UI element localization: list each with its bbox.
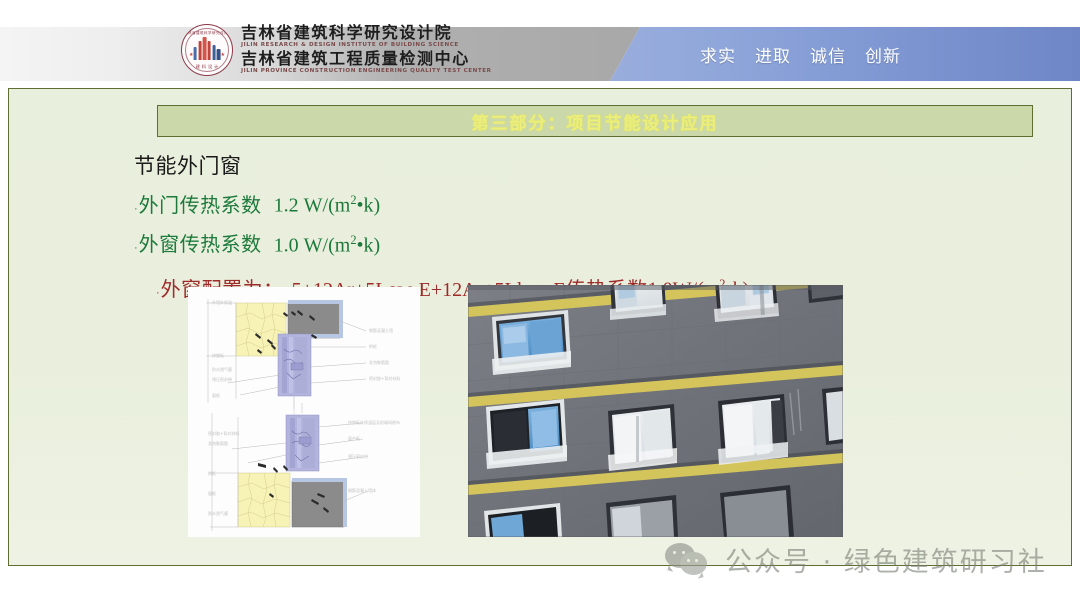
svg-text:附框: 附框 <box>369 343 377 349</box>
bullet-marker-icon: · <box>156 278 160 309</box>
header-motto: 求实 进取 诚信 创新 <box>700 27 901 81</box>
watermark-text: 公众号 · 绿色建筑研习社 <box>725 540 1047 579</box>
svg-text:钢筋混凝土墙体: 钢筋混凝土墙体 <box>348 487 376 493</box>
svg-text:外墙外保温: 外墙外保温 <box>212 299 232 305</box>
svg-text:发泡聚氨酯: 发泡聚氨酯 <box>208 440 228 446</box>
watermark: 公众号 · 绿色建筑研习社 <box>665 540 1047 579</box>
svg-text:预压密封带: 预压密封带 <box>348 453 368 459</box>
svg-text:挤塑板外保温层及耐碱网格布: 挤塑板外保温层及耐碱网格布 <box>348 419 400 425</box>
svg-text:窗台板: 窗台板 <box>348 435 360 441</box>
svg-text:密封胶+背衬材料: 密封胶+背衬材料 <box>369 375 400 381</box>
seal-arc-bottom-text: 建科设计 <box>182 64 233 70</box>
institute-name-cn-1: 吉林省建筑科学研究设计院 <box>241 24 492 41</box>
institute-logo-lockup: 吉林省建筑科学研究设计院 ★ ★ 建科设计 吉林省建筑科学研究设计院 JILIN… <box>181 24 492 76</box>
svg-text:钢筋混凝土墙: 钢筋混凝土墙 <box>369 327 393 333</box>
institute-seal-icon: 吉林省建筑科学研究设计院 ★ ★ 建科设计 <box>181 24 233 76</box>
svg-text:防水透气膜: 防水透气膜 <box>208 510 228 516</box>
wechat-bubbles-icon <box>665 543 711 577</box>
bullet-label-1: 外门传热系数 <box>139 190 262 221</box>
motto-word-4: 创新 <box>865 42 901 67</box>
institute-name-block: 吉林省建筑科学研究设计院 JILIN RESEARCH & DESIGN INS… <box>241 24 492 76</box>
svg-text:预压密封带: 预压密封带 <box>212 376 232 382</box>
bullet-row-1: · 外门传热系数 1.2 W/(m2•k) <box>134 185 749 225</box>
svg-text:附框: 附框 <box>208 470 216 476</box>
slide-header: 求实 进取 诚信 创新 吉林省建筑科学研究设计院 ★ ★ 建科设计 吉林省建筑科… <box>0 27 1080 81</box>
bullet-row-2: · 外窗传热系数 1.0 W/(m2•k) <box>134 225 749 265</box>
svg-text:防水透气膜: 防水透气膜 <box>212 366 232 372</box>
svg-text:挤塑板: 挤塑板 <box>212 352 224 358</box>
detail-drawing-svg: 外墙外保温 挤塑板 防水透气膜 预压密封带 窗框 钢筋混凝土墙 附框 发泡聚氨酯… <box>188 287 420 537</box>
motto-word-2: 进取 <box>755 42 791 67</box>
building-facade-insulation-photo <box>468 285 843 537</box>
content-heading: 节能外门窗 <box>134 151 749 181</box>
svg-text:窗框: 窗框 <box>212 392 220 398</box>
seal-building-bars-icon <box>194 36 221 60</box>
motto-word-1: 求实 <box>700 42 736 67</box>
institute-name-en-2: JILIN PROVINCE CONSTRUCTION ENGINEERING … <box>241 67 492 76</box>
bullet-value-2: 1.0 W/(m2•k) <box>274 225 381 262</box>
bullet-marker-icon: · <box>134 194 138 225</box>
motto-word-3: 诚信 <box>810 42 846 67</box>
svg-text:发泡聚氨酯: 发泡聚氨酯 <box>369 359 389 365</box>
slide-root: 求实 进取 诚信 创新 吉林省建筑科学研究设计院 ★ ★ 建科设计 吉林省建筑科… <box>0 0 1080 608</box>
svg-text:密封胶+背衬材料: 密封胶+背衬材料 <box>208 430 239 436</box>
page-title: 第三部分：项目节能设计应用 <box>472 109 719 134</box>
bullet-label-2: 外窗传热系数 <box>139 229 262 260</box>
wechat-bubble-front <box>680 552 707 575</box>
institute-name-cn-2: 吉林省建筑工程质量检测中心 <box>241 50 492 67</box>
bullet-marker-icon: · <box>134 233 138 264</box>
svg-text:窗框: 窗框 <box>208 490 216 496</box>
window-node-detail-drawing: 外墙外保温 挤塑板 防水透气膜 预压密封带 窗框 钢筋混凝土墙 附框 发泡聚氨酯… <box>188 287 420 537</box>
seal-star-right-icon: ★ <box>221 52 225 58</box>
section-title-bar: 第三部分：项目节能设计应用 <box>157 105 1033 137</box>
bullet-value-1: 1.2 W/(m2•k) <box>274 185 381 222</box>
slide-content-panel: 第三部分：项目节能设计应用 节能外门窗 · 外门传热系数 1.2 W/(m2•k… <box>8 88 1072 566</box>
facade-photo-svg <box>468 285 843 537</box>
seal-star-left-icon: ★ <box>189 52 193 58</box>
